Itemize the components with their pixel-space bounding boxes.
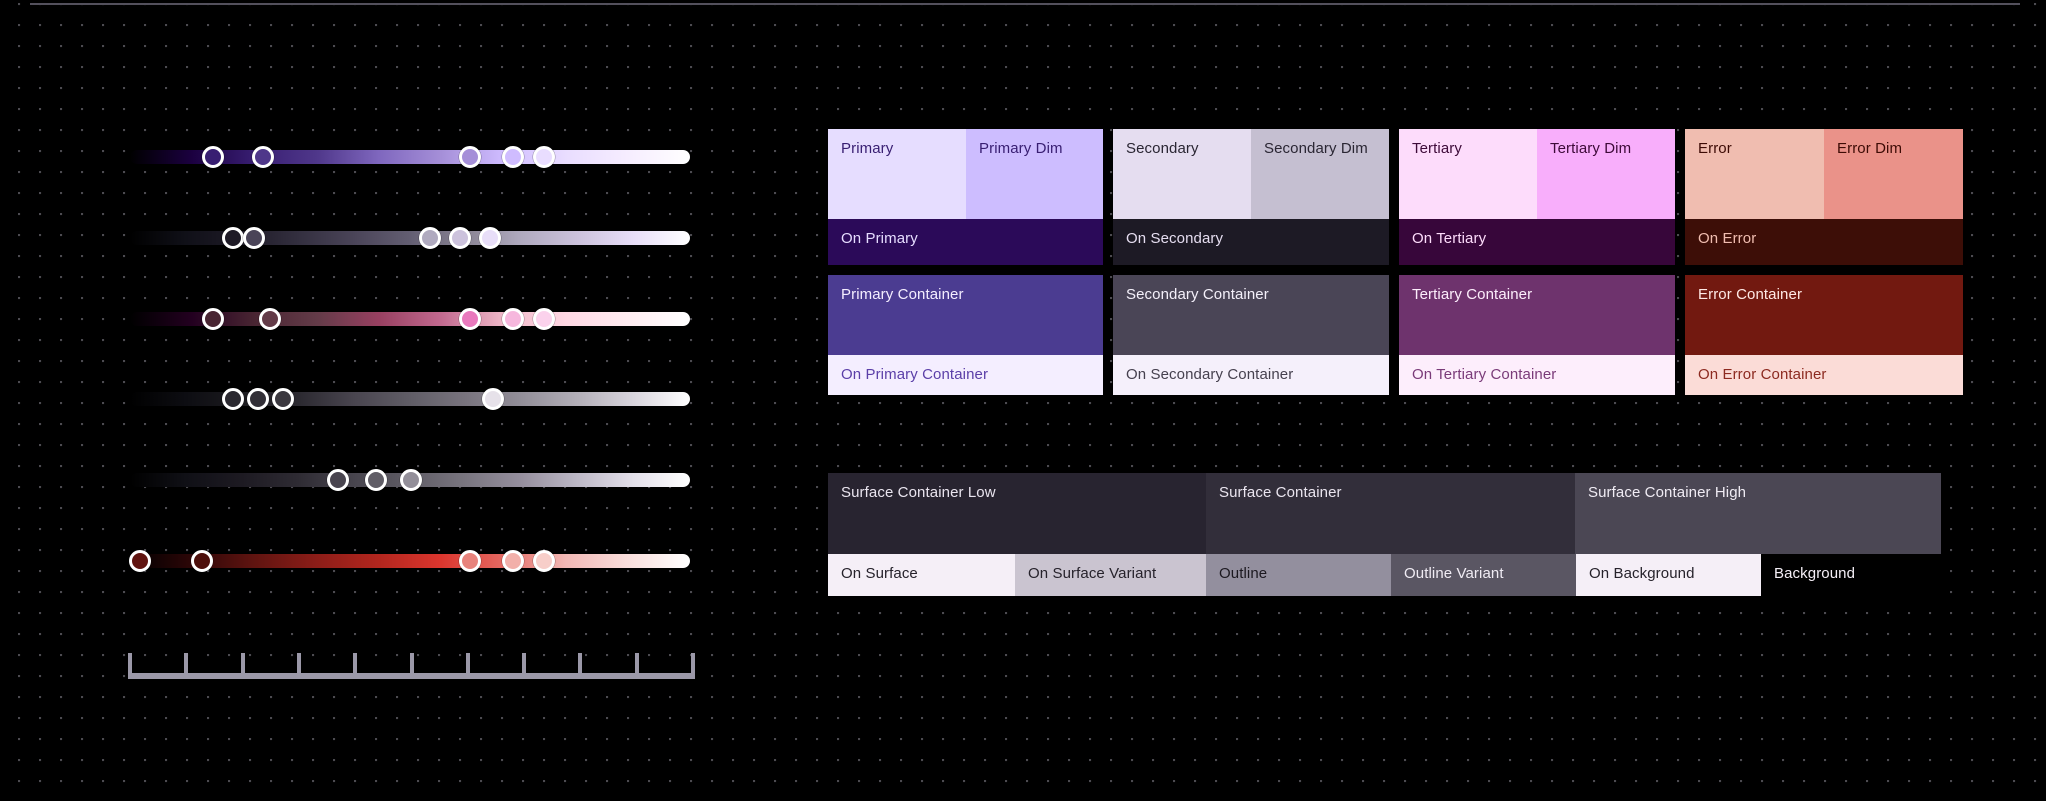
ruler-tick: [410, 653, 414, 679]
marker-error-70[interactable]: [459, 550, 481, 572]
swatch-row: On Secondary: [1113, 219, 1389, 265]
error-group: ErrorError DimOn ErrorError ContainerOn …: [1685, 129, 1963, 395]
swatch-label: Tertiary Container: [1412, 286, 1532, 304]
swatch-label: Tertiary: [1412, 140, 1462, 158]
tone-scale-ruler: [130, 645, 693, 679]
color-swatch-outline-variant[interactable]: Outline Variant: [1391, 554, 1576, 596]
ruler-tick: [128, 653, 132, 679]
swatch-row: TertiaryTertiary Dim: [1399, 129, 1675, 219]
swatch-label: Secondary Container: [1126, 286, 1269, 304]
ruler-tick: [578, 653, 582, 679]
marker-error-90[interactable]: [533, 550, 555, 572]
primary-palette-ramp[interactable]: [130, 150, 690, 164]
ruler-tick: [297, 653, 301, 679]
secondary-group: SecondarySecondary DimOn SecondarySecond…: [1113, 129, 1389, 395]
color-swatch-on-secondary[interactable]: On Secondary: [1113, 219, 1389, 265]
marker-tertiary-80[interactable]: [502, 308, 524, 330]
marker-primary-40[interactable]: [202, 146, 224, 168]
swatch-label: Surface Container: [1219, 484, 1342, 502]
marker-nv-60[interactable]: [400, 469, 422, 491]
swatch-label: On Tertiary: [1412, 230, 1486, 248]
swatch-label: Primary: [841, 140, 893, 158]
color-roles-grid-bottom: Surface Container LowSurface ContainerSu…: [828, 473, 1942, 596]
ruler-tick: [522, 653, 526, 679]
swatch-row: On Error Container: [1685, 355, 1963, 395]
palette-inspector-canvas: PrimaryPrimary DimOn PrimaryPrimary Cont…: [0, 0, 2046, 801]
swatch-label: On Error: [1698, 230, 1756, 248]
ramp-track[interactable]: [130, 392, 690, 406]
tonal-ramp-sliders-panel: [0, 0, 700, 801]
on-roles-row: On SurfaceOn Surface VariantOutlineOutli…: [828, 554, 1942, 596]
color-swatch-on-secondary-container[interactable]: On Secondary Container: [1113, 355, 1389, 395]
surface-roles-block: Surface Container LowSurface ContainerSu…: [828, 473, 1942, 596]
swatch-label: On Error Container: [1698, 366, 1827, 384]
swatch-row: Error Container: [1685, 275, 1963, 355]
color-swatch-background[interactable]: Background: [1761, 554, 1942, 596]
marker-primary-90[interactable]: [533, 146, 555, 168]
swatch-label: Tertiary Dim: [1550, 140, 1631, 158]
swatch-label: Primary Container: [841, 286, 964, 304]
swatch-row: On Tertiary: [1399, 219, 1675, 265]
primary-group: PrimaryPrimary DimOn PrimaryPrimary Cont…: [828, 129, 1103, 395]
tertiary-group: TertiaryTertiary DimOn TertiaryTertiary …: [1399, 129, 1675, 395]
marker-primary-70[interactable]: [459, 146, 481, 168]
marker-secondary-30[interactable]: [222, 227, 244, 249]
color-swatch-surface-container-low[interactable]: Surface Container Low: [828, 473, 1206, 554]
color-roles-grid-top: PrimaryPrimary DimOn PrimaryPrimary Cont…: [828, 129, 1963, 395]
swatch-label: On Primary Container: [841, 366, 988, 384]
color-swatch-surface-container[interactable]: Surface Container: [1206, 473, 1575, 554]
swatch-label: On Surface: [841, 565, 918, 583]
tertiary-palette-ramp[interactable]: [130, 312, 690, 326]
swatch-row: On Error: [1685, 219, 1963, 265]
marker-neutral-90[interactable]: [482, 388, 504, 410]
marker-secondary-70[interactable]: [419, 227, 441, 249]
ruler-tick: [241, 653, 245, 679]
marker-neutral-20[interactable]: [222, 388, 244, 410]
group-spacer: [1113, 265, 1389, 275]
swatch-row: SecondarySecondary Dim: [1113, 129, 1389, 219]
color-swatch-tertiary-container[interactable]: Tertiary Container: [1399, 275, 1675, 355]
group-spacer: [1685, 265, 1963, 275]
color-swatch-primary[interactable]: Primary: [828, 129, 966, 219]
secondary-palette-ramp[interactable]: [130, 231, 690, 245]
color-swatch-on-surface-variant[interactable]: On Surface Variant: [1015, 554, 1206, 596]
swatch-row: Primary Container: [828, 275, 1103, 355]
swatch-label: On Background: [1589, 565, 1695, 583]
marker-tertiary-90[interactable]: [533, 308, 555, 330]
surface-containers-row: Surface Container LowSurface ContainerSu…: [828, 473, 1942, 554]
marker-error-40[interactable]: [191, 550, 213, 572]
color-swatch-on-error[interactable]: On Error: [1685, 219, 1963, 265]
swatch-label: Error: [1698, 140, 1732, 158]
swatch-label: On Tertiary Container: [1412, 366, 1556, 384]
color-swatch-error-container[interactable]: Error Container: [1685, 275, 1963, 355]
marker-neutral-30[interactable]: [272, 388, 294, 410]
marker-tertiary-50[interactable]: [259, 308, 281, 330]
color-swatch-surface-container-high[interactable]: Surface Container High: [1575, 473, 1941, 554]
swatch-row: On Tertiary Container: [1399, 355, 1675, 395]
color-swatch-on-error-container[interactable]: On Error Container: [1685, 355, 1963, 395]
neutral-palette-ramp[interactable]: [130, 392, 690, 406]
swatch-label: Secondary Dim: [1264, 140, 1368, 158]
error-palette-ramp[interactable]: [130, 554, 690, 568]
swatch-label: On Secondary Container: [1126, 366, 1293, 384]
marker-primary-80[interactable]: [502, 146, 524, 168]
swatch-label: Primary Dim: [979, 140, 1063, 158]
swatch-label: Surface Container Low: [841, 484, 996, 502]
marker-secondary-80[interactable]: [449, 227, 471, 249]
marker-primary-50[interactable]: [252, 146, 274, 168]
swatch-row: ErrorError Dim: [1685, 129, 1963, 219]
marker-secondary-40[interactable]: [243, 227, 265, 249]
color-swatch-on-tertiary[interactable]: On Tertiary: [1399, 219, 1675, 265]
marker-nv-50[interactable]: [365, 469, 387, 491]
ramp-track[interactable]: [130, 231, 690, 245]
swatch-row: On Primary Container: [828, 355, 1103, 395]
swatch-label: Surface Container High: [1588, 484, 1746, 502]
swatch-row: Tertiary Container: [1399, 275, 1675, 355]
ruler-tick: [466, 653, 470, 679]
color-swatch-primary-container[interactable]: Primary Container: [828, 275, 1103, 355]
color-swatch-on-background[interactable]: On Background: [1576, 554, 1761, 596]
marker-secondary-90[interactable]: [479, 227, 501, 249]
swatch-row: On Secondary Container: [1113, 355, 1389, 395]
ramp-track[interactable]: [130, 554, 690, 568]
swatch-label: Error Dim: [1837, 140, 1902, 158]
color-swatch-secondary-dim[interactable]: Secondary Dim: [1251, 129, 1389, 219]
swatch-label: On Secondary: [1126, 230, 1223, 248]
swatch-row: On Primary: [828, 219, 1103, 265]
marker-tertiary-40[interactable]: [202, 308, 224, 330]
color-swatch-tertiary-dim[interactable]: Tertiary Dim: [1537, 129, 1675, 219]
swatch-label: On Surface Variant: [1028, 565, 1156, 583]
color-swatch-on-primary-container[interactable]: On Primary Container: [828, 355, 1103, 395]
swatch-label: Secondary: [1126, 140, 1199, 158]
ruler-tick: [353, 653, 357, 679]
color-swatch-on-primary[interactable]: On Primary: [828, 219, 1103, 265]
ruler-tick: [691, 653, 695, 679]
swatch-label: Outline: [1219, 565, 1267, 583]
swatch-label: Outline Variant: [1404, 565, 1504, 583]
color-swatch-secondary[interactable]: Secondary: [1113, 129, 1251, 219]
marker-nv-40[interactable]: [327, 469, 349, 491]
color-swatch-error-dim[interactable]: Error Dim: [1824, 129, 1963, 219]
color-swatch-secondary-container[interactable]: Secondary Container: [1113, 275, 1389, 355]
marker-error-80[interactable]: [502, 550, 524, 572]
swatch-row: Secondary Container: [1113, 275, 1389, 355]
ruler-tick: [184, 653, 188, 679]
swatch-label: Background: [1774, 565, 1855, 583]
marker-tertiary-70[interactable]: [459, 308, 481, 330]
group-spacer: [1399, 265, 1675, 275]
group-spacer: [828, 265, 1103, 275]
swatch-label: On Primary: [841, 230, 918, 248]
swatch-label: Error Container: [1698, 286, 1802, 304]
color-swatch-on-tertiary-container[interactable]: On Tertiary Container: [1399, 355, 1675, 395]
neutral-variant-palette-ramp[interactable]: [130, 473, 690, 487]
color-swatch-error[interactable]: Error: [1685, 129, 1824, 219]
swatch-row: PrimaryPrimary Dim: [828, 129, 1103, 219]
marker-error-30[interactable]: [129, 550, 151, 572]
ruler-tick: [635, 653, 639, 679]
color-swatch-outline[interactable]: Outline: [1206, 554, 1391, 596]
color-swatch-on-surface[interactable]: On Surface: [828, 554, 1015, 596]
color-swatch-primary-dim[interactable]: Primary Dim: [966, 129, 1103, 219]
marker-neutral-25[interactable]: [247, 388, 269, 410]
color-swatch-tertiary[interactable]: Tertiary: [1399, 129, 1537, 219]
